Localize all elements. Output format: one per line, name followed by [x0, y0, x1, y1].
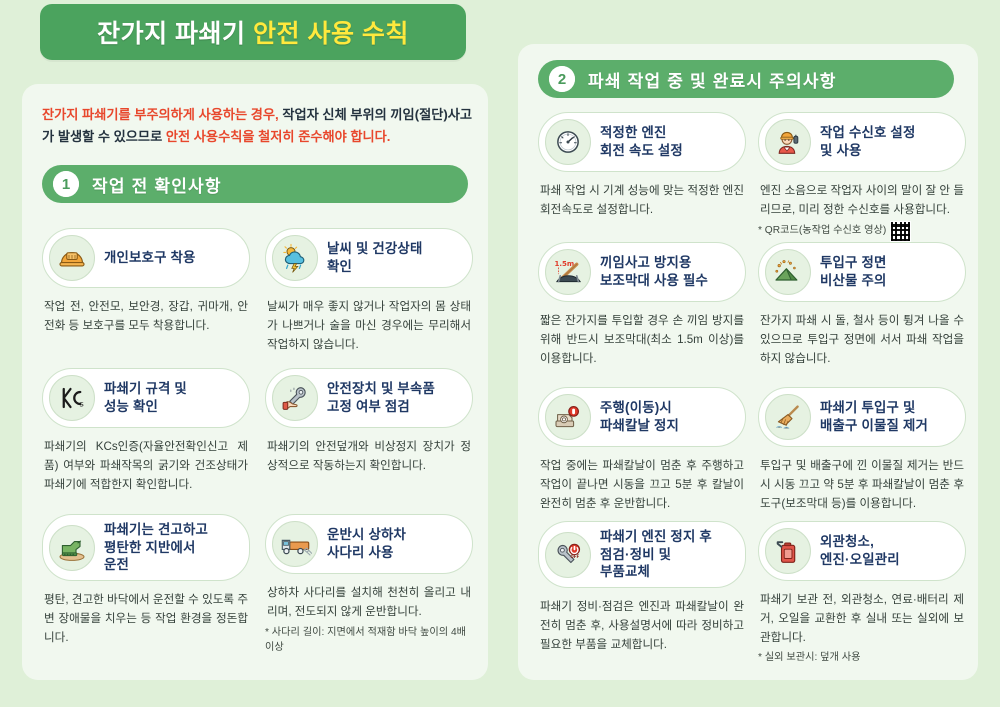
- card-title: 주행(이동)시 파쇄칼날 정지: [600, 399, 679, 434]
- worker-signal-icon: [765, 119, 811, 165]
- card-description: 상하차 사다리를 설치해 천천히 올리고 내리며, 전도되지 않게 운반합니다.: [265, 584, 473, 622]
- card-title-line: 작업 수신호 설정: [820, 124, 915, 142]
- card-caption: 운반시 상하차 사다리 사용: [265, 514, 473, 574]
- card-flying-debris-warning: 투입구 정면 비산물 주의 잔가지 파쇄 시 돌, 철사 등이 튕겨 나올 수 …: [758, 242, 966, 368]
- push-stick-icon: 1.5m: [545, 249, 591, 295]
- card-title-line: 적정한 엔진: [600, 124, 683, 142]
- card-title-line: 사다리 사용: [327, 544, 406, 562]
- card-title-line: 파쇄기 엔진 정지 후: [600, 528, 712, 546]
- card-title-line: 끼임사고 방지용: [600, 254, 708, 272]
- intro-line2-red: 안전 사용수칙을 철저히 준수해야 합니다.: [166, 129, 391, 144]
- card-caption: 적정한 엔진 회전 속도 설정: [538, 112, 746, 172]
- card-title: 파쇄기 투입구 및 배출구 이물질 제거: [820, 399, 928, 434]
- card-title: 안전장치 및 부속품 고정 여부 점검: [327, 380, 435, 415]
- card-title-line: 파쇄기 투입구 및: [820, 399, 928, 417]
- card-kcs-certification: s 파쇄기 규격 및 성능 확인 파쇄기의 KCs인증(자율안전확인신고 제품)…: [42, 368, 250, 494]
- section-2-header: 2 파쇄 작업 중 및 완료시 주의사항: [538, 60, 954, 98]
- page-title-plain: 잔가지 파쇄기: [97, 20, 253, 48]
- card-caption: 안전장치 및 부속품 고정 여부 점검: [265, 368, 473, 428]
- card-weather-and-health-check: 날씨 및 건강상태 확인 날씨가 매우 좋지 않거나 작업자의 몸 상태가 나쁘…: [265, 228, 473, 354]
- card-title: 끼임사고 방지용 보조막대 사용 필수: [600, 254, 708, 289]
- card-title-line: 파쇄기 규격 및: [104, 380, 187, 398]
- card-title-line: 엔진·오일관리: [820, 551, 900, 569]
- card-title-line: 평탄한 지반에서: [104, 539, 208, 557]
- card-caption: 날씨 및 건강상태 확인: [265, 228, 473, 288]
- card-caption: 파쇄기는 견고하고 평탄한 지반에서 운전: [42, 514, 250, 581]
- card-engine-speed: 적정한 엔진 회전 속도 설정 파쇄 작업 시 기계 성능에 맞는 적정한 엔진…: [538, 112, 746, 220]
- card-title-line: 회전 속도 설정: [600, 142, 683, 160]
- card-title: 외관청소, 엔진·오일관리: [820, 533, 900, 568]
- card-title-line: 날씨 및 건강상태: [327, 240, 422, 258]
- card-push-stick-required: 1.5m 끼임사고 방지용 보조막대 사용 필수 짧은 잔가지를 투입할 경우 …: [538, 242, 746, 368]
- card-remove-foreign-matter: 파쇄기 투입구 및 배출구 이물질 제거 투입구 및 배출구에 낀 이물질 제거…: [758, 387, 966, 513]
- card-title-line: 개인보호구 착용: [104, 249, 196, 267]
- card-maintenance-after-engine-stop: OFF 파쇄기 엔진 정지 후 점검·정비 및 부품교체 파쇄기 정비·점검은 …: [538, 521, 746, 654]
- intro-line1-red: 잔가지 파쇄기를 부주의하게 사용하는 경우,: [42, 107, 282, 122]
- card-exterior-cleaning-oil-management: 외관청소, 엔진·오일관리 파쇄기 보관 전, 외관청소, 연료·배터리 제거,…: [758, 521, 966, 666]
- kcs-certification-icon: s: [49, 375, 95, 421]
- weather-storm-icon: [272, 235, 318, 281]
- card-hand-signals: 작업 수신호 설정 및 사용 엔진 소음으로 작업자 사이의 말이 잘 안 들리…: [758, 112, 966, 244]
- card-title: 적정한 엔진 회전 속도 설정: [600, 124, 683, 159]
- card-description: 날씨가 매우 좋지 않거나 작업자의 몸 상태가 나쁘거나 술을 마신 경우에는…: [265, 298, 473, 354]
- card-description: 엔진 소음으로 작업자 사이의 말이 잘 안 들리므로, 미리 정한 수신호를 …: [758, 182, 966, 220]
- section-1-header: 1 작업 전 확인사항: [42, 165, 468, 203]
- card-firm-flat-ground: 파쇄기는 견고하고 평탄한 지반에서 운전 평탄, 견고한 바닥에서 운전할 수…: [42, 514, 250, 647]
- card-caption: 주행(이동)시 파쇄칼날 정지: [538, 387, 746, 447]
- card-title: 작업 수신호 설정 및 사용: [820, 124, 915, 159]
- page-title: 잔가지 파쇄기 안전 사용 수칙: [97, 14, 409, 50]
- truck-ladder-icon: [272, 521, 318, 567]
- card-title-line: 고정 여부 점검: [327, 398, 435, 416]
- card-title-line: 배출구 이물질 제거: [820, 417, 928, 435]
- card-loading-ladder: 운반시 상하차 사다리 사용 상하차 사다리를 설치해 천천히 올리고 내리며,…: [265, 514, 473, 655]
- debris-hopper-icon: [765, 249, 811, 295]
- card-description: 파쇄기의 안전덮개와 비상정지 장치가 정상적으로 작동하는지 확인합니다.: [265, 438, 473, 476]
- card-caption: 작업 수신호 설정 및 사용: [758, 112, 966, 172]
- card-description: 작업 전, 안전모, 보안경, 장갑, 귀마개, 안전화 등 보호구를 모두 착…: [42, 298, 250, 336]
- card-caption: s 파쇄기 규격 및 성능 확인: [42, 368, 250, 428]
- card-note: * QR코드(농작업 수신호 영상): [758, 223, 966, 244]
- intro-paragraph: 잔가지 파쇄기를 부주의하게 사용하는 경우, 작업자 신체 부위의 끼임(절단…: [42, 104, 472, 148]
- card-title-line: 투입구 정면: [820, 254, 887, 272]
- card-note-text: * 사다리 길이: 지면에서 적재함 바닥 높이의 4배 이상: [265, 625, 473, 656]
- card-caption: OFF 파쇄기 엔진 정지 후 점검·정비 및 부품교체: [538, 521, 746, 588]
- hard-hat-icon: [49, 235, 95, 281]
- card-note-text: * 실외 보관시: 덮개 사용: [758, 650, 860, 665]
- section-2-number: 2: [549, 66, 575, 92]
- wrench-hand-icon: [272, 375, 318, 421]
- card-description: 파쇄기 보관 전, 외관청소, 연료·배터리 제거, 오일을 교환한 후 실내 …: [758, 591, 966, 647]
- card-title-line: 보조막대 사용 필수: [600, 272, 708, 290]
- card-title-line: 외관청소,: [820, 533, 900, 551]
- card-description: 파쇄 작업 시 기계 성능에 맞는 적정한 엔진 회전속도로 설정합니다.: [538, 182, 746, 220]
- card-note: * 사다리 길이: 지면에서 적재함 바닥 높이의 4배 이상: [265, 625, 473, 656]
- card-title-line: 운반시 상하차: [327, 526, 406, 544]
- card-description: 파쇄기의 KCs인증(자율안전확인신고 제품) 여부와 파쇄작목의 굵기와 건조…: [42, 438, 250, 494]
- card-blade-stop-when-moving: 주행(이동)시 파쇄칼날 정지 작업 중에는 파쇄칼날이 멈춘 후 주행하고 작…: [538, 387, 746, 513]
- shredder-on-ground-icon: [49, 525, 95, 571]
- card-title: 투입구 정면 비산물 주의: [820, 254, 887, 289]
- card-title-line: 점검·정비 및: [600, 546, 712, 564]
- speed-gauge-icon: [545, 119, 591, 165]
- card-title: 파쇄기는 견고하고 평탄한 지반에서 운전: [104, 521, 208, 574]
- page-title-banner: 잔가지 파쇄기 안전 사용 수칙: [40, 4, 466, 60]
- wrench-power-off-icon: OFF: [545, 532, 591, 578]
- section-1-title: 작업 전 확인사항: [92, 172, 222, 197]
- svg-text:OFF: OFF: [570, 554, 579, 559]
- emergency-stop-icon: [545, 394, 591, 440]
- card-description: 투입구 및 배출구에 낀 이물질 제거는 반드시 시동 끄고 약 5분 후 파쇄…: [758, 457, 966, 513]
- card-title-line: 부품교체: [600, 563, 712, 581]
- card-title-line: 성능 확인: [104, 398, 187, 416]
- broom-cleanup-icon: [765, 394, 811, 440]
- card-personal-protective-equipment: 개인보호구 착용 작업 전, 안전모, 보안경, 장갑, 귀마개, 안전화 등 …: [42, 228, 250, 336]
- card-note-text: * QR코드(농작업 수신호 영상): [758, 223, 886, 238]
- card-caption: 1.5m 끼임사고 방지용 보조막대 사용 필수: [538, 242, 746, 302]
- card-description: 작업 중에는 파쇄칼날이 멈춘 후 주행하고 작업이 끝나면 시동을 끄고 5분…: [538, 457, 746, 513]
- fuel-can-icon: [765, 528, 811, 574]
- card-title-line: 운전: [104, 556, 208, 574]
- card-description: 평탄, 견고한 바닥에서 운전할 수 있도록 주변 장애물을 치우는 등 작업 …: [42, 591, 250, 647]
- card-title-line: 비산물 주의: [820, 272, 887, 290]
- card-description: 잔가지 파쇄 시 돌, 철사 등이 튕겨 나올 수 있으므로 투입구 정면에 서…: [758, 312, 966, 368]
- card-title-line: 주행(이동)시: [600, 399, 679, 417]
- card-title-line: 및 사용: [820, 142, 915, 160]
- card-title: 파쇄기 규격 및 성능 확인: [104, 380, 187, 415]
- page-title-highlight: 안전 사용 수칙: [253, 20, 409, 48]
- card-safety-device-inspection: 안전장치 및 부속품 고정 여부 점검 파쇄기의 안전덮개와 비상정지 장치가 …: [265, 368, 473, 476]
- card-caption: 파쇄기 투입구 및 배출구 이물질 제거: [758, 387, 966, 447]
- card-title-line: 파쇄칼날 정지: [600, 417, 679, 435]
- card-description: 파쇄기 정비·점검은 엔진과 파쇄칼날이 완전히 멈춘 후, 사용설명서에 따라…: [538, 598, 746, 654]
- card-title-line: 확인: [327, 258, 422, 276]
- card-title: 날씨 및 건강상태 확인: [327, 240, 422, 275]
- intro-line2-dark: 발생할 수 있으므로: [58, 129, 166, 144]
- svg-text:s: s: [80, 398, 84, 408]
- card-note: * 실외 보관시: 덮개 사용: [758, 650, 966, 665]
- card-title-line: 안전장치 및 부속품: [327, 380, 435, 398]
- card-caption: 투입구 정면 비산물 주의: [758, 242, 966, 302]
- push-stick-length-label: 1.5m: [554, 258, 574, 267]
- card-title: 운반시 상하차 사다리 사용: [327, 526, 406, 561]
- card-title: 파쇄기 엔진 정지 후 점검·정비 및 부품교체: [600, 528, 712, 581]
- card-title: 개인보호구 착용: [104, 249, 196, 267]
- infographic-page: 잔가지 파쇄기 안전 사용 수칙 잔가지 파쇄기를 부주의하게 사용하는 경우,…: [0, 0, 1000, 707]
- card-description: 짧은 잔가지를 투입할 경우 손 끼임 방지를 위해 반드시 보조막대(최소 1…: [538, 312, 746, 368]
- card-title-line: 파쇄기는 견고하고: [104, 521, 208, 539]
- qr-code-icon: [890, 221, 911, 242]
- card-caption: 외관청소, 엔진·오일관리: [758, 521, 966, 581]
- section-2-title: 파쇄 작업 중 및 완료시 주의사항: [588, 67, 837, 92]
- card-caption: 개인보호구 착용: [42, 228, 250, 288]
- section-1-number: 1: [53, 171, 79, 197]
